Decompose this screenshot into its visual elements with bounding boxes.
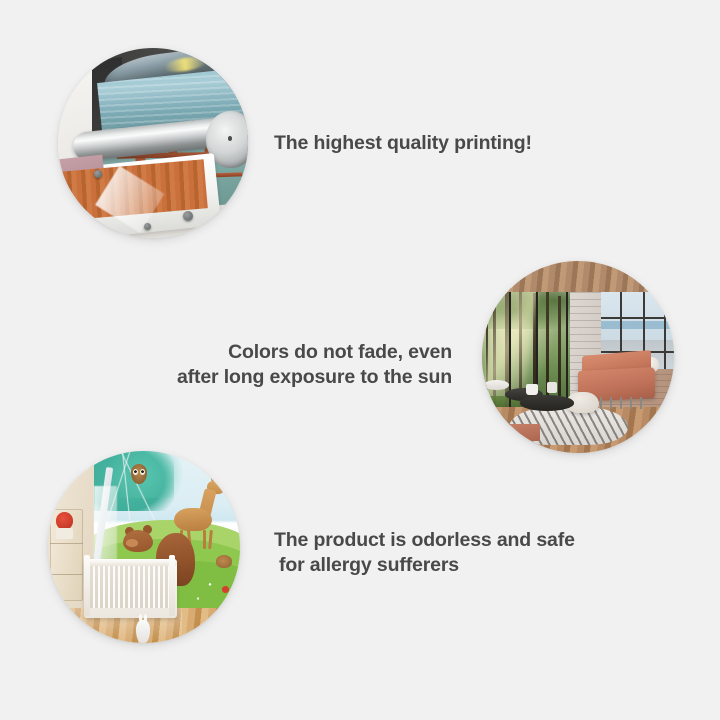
loft-room-illustration — [482, 261, 674, 453]
coffee-table — [520, 395, 574, 410]
machine-knob — [144, 223, 151, 230]
mural-deer-antler — [214, 465, 217, 475]
crib-top-rail — [84, 559, 176, 567]
crib-post — [84, 555, 90, 616]
feature-1-caption-line-1: The highest quality printing! — [274, 132, 532, 154]
feature-2-caption-line-1: Colors do not fade, even — [228, 341, 452, 363]
feature-3-caption-line-2: for allergy sufferers — [274, 553, 459, 578]
mural-ladybug — [222, 586, 229, 592]
crib-rails — [88, 566, 172, 608]
nursery-mural-photo — [48, 451, 240, 643]
printing-machine-illustration — [58, 48, 248, 238]
mural-deer-leg — [203, 530, 206, 549]
coffee-cup — [526, 384, 538, 396]
shelf-divider — [50, 574, 83, 575]
feature-3-caption: The product is odorless and safefor alle… — [274, 528, 575, 578]
feature-2-caption-line-2: after long exposure to the sun — [177, 366, 452, 388]
side-table — [484, 380, 509, 390]
mural-deer-body — [174, 508, 211, 532]
mural-hedgehog — [216, 555, 232, 568]
mural-owl-eyes — [131, 464, 147, 484]
feature-3-caption-line-1: The product is odorless and safe — [274, 529, 575, 551]
crib-post — [169, 555, 175, 616]
feature-1-caption: The highest quality printing! — [274, 131, 532, 156]
toy-bunny — [136, 620, 149, 643]
machine-knob — [94, 170, 102, 178]
shelf-box — [56, 528, 73, 540]
loft-forest-mural-photo — [482, 261, 674, 453]
nursery-room-illustration — [48, 451, 240, 643]
coffee-cup — [547, 382, 557, 394]
window-frame-bar — [601, 317, 674, 319]
leather-bench — [486, 424, 540, 441]
mural-tree-trunk — [546, 288, 549, 412]
mural-tree-trunk — [558, 296, 561, 409]
printing-machine-photo — [58, 48, 248, 238]
feature-2-caption: Colors do not fade, evenafter long expos… — [152, 340, 452, 390]
wood-plank-ceiling — [482, 261, 674, 292]
wall-mullion — [509, 288, 511, 426]
infographic-canvas: The highest quality printing! — [0, 0, 720, 720]
shelf-divider — [50, 543, 83, 544]
